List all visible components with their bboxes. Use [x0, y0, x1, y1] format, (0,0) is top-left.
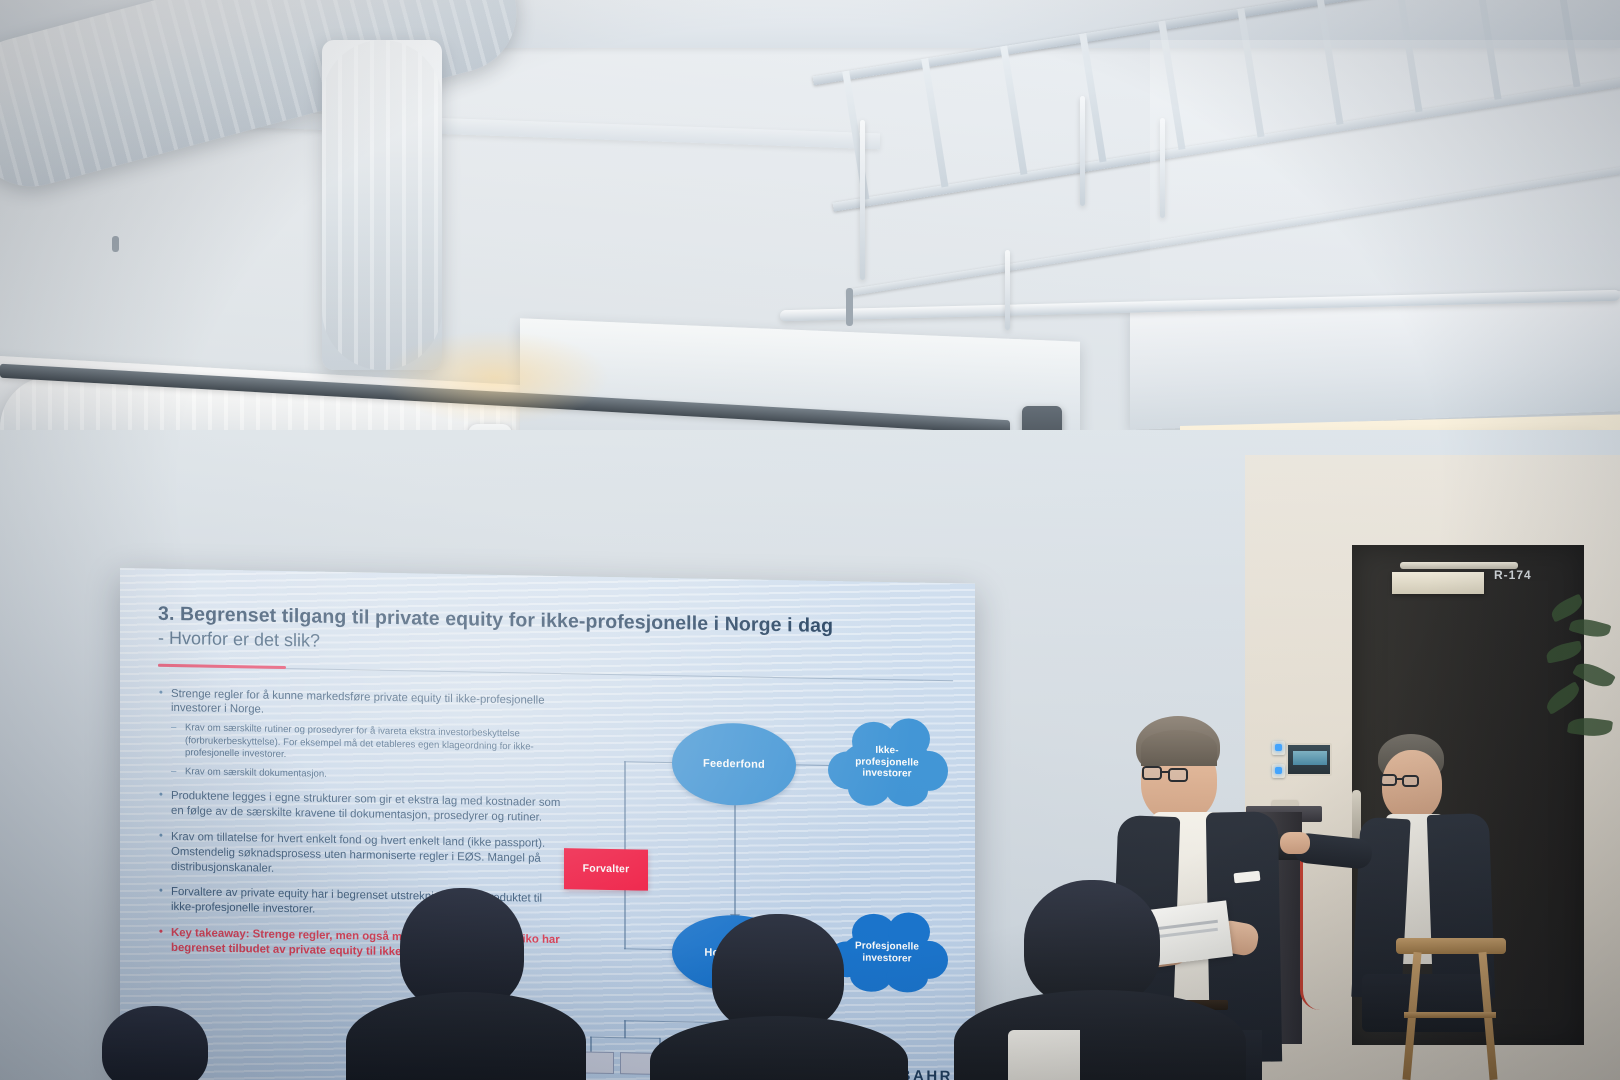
title-divider [158, 662, 949, 682]
feeder-fund-label: Feederfond [703, 757, 765, 770]
standing-speaker-hairline [1141, 730, 1217, 766]
audience-member-2 [352, 888, 582, 1080]
audience-member-4-collar [1008, 1030, 1080, 1080]
sub-bullet-1-2: Krav om særskilt dokumentasjon. [171, 766, 568, 786]
seated-speaker-glasses [1378, 774, 1448, 790]
nonprofessional-investors-label: Ikke- profesjonelle investorer [826, 715, 948, 811]
air-duct-main [0, 0, 530, 200]
bar-stool [1396, 938, 1506, 1080]
nonprofessional-investors-cloud: Ikke- profesjonelle investorer [826, 715, 948, 811]
sub-bullet-list-1: Krav om særskilte rutiner og prosedyrer … [171, 722, 568, 785]
audience-member-3 [660, 914, 900, 1080]
bullet-item-1: Strenge regler for å kunne markedsføre p… [158, 686, 568, 785]
presentation-room-photo: 3. Begrenset tilgang til private equity … [0, 0, 1620, 1080]
air-duct-vertical [322, 40, 442, 370]
manager-label: Forvalter [583, 863, 630, 876]
bullet-item-2: Produktene legges i egne strukturer som … [158, 789, 568, 826]
sub-bullet-1-1: Krav om særskilte rutiner og prosedyrer … [171, 722, 568, 766]
room-number-sign: R-174 [1494, 568, 1532, 582]
connector-feeder-to-main [734, 805, 736, 917]
sprinkler-head [112, 236, 119, 252]
door-closer [1392, 572, 1484, 594]
feeder-fund-node: Feederfond [672, 722, 796, 806]
audience-member-4 [968, 880, 1228, 1080]
sprinkler-head-2 [846, 288, 853, 326]
audience-member-1 [58, 1006, 238, 1080]
standing-speaker-glasses [1140, 766, 1220, 784]
manager-node: Forvalter [564, 848, 648, 891]
potted-plant [1540, 590, 1620, 800]
bullet-item-3: Krav om tillatelse for hvert enkelt fond… [158, 830, 568, 882]
seated-speaker-hand [1280, 832, 1310, 854]
accent-underline [158, 663, 286, 669]
